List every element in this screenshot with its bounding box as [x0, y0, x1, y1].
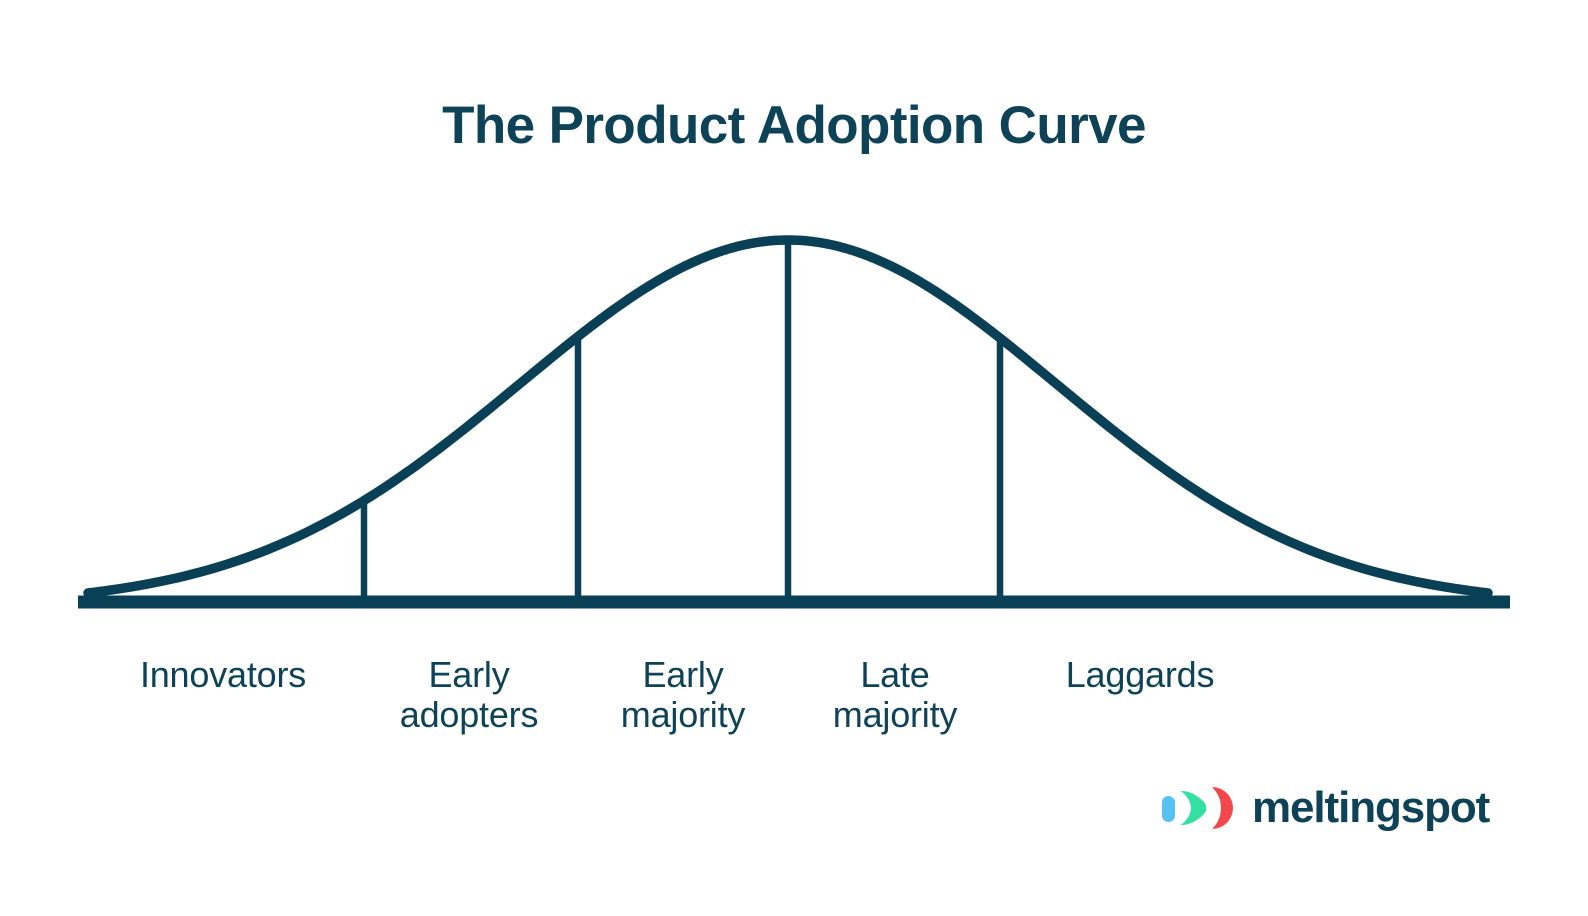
- bell-curve-path: [88, 240, 1488, 593]
- segment-label-line-1: Laggards: [990, 655, 1290, 695]
- brand-logo: meltingspot: [1160, 780, 1489, 836]
- segment-label-line-2: majority: [745, 695, 1045, 735]
- page-title: The Product Adoption Curve: [0, 96, 1588, 157]
- brand-wordmark: meltingspot: [1252, 786, 1489, 830]
- segment-label-laggards: Laggards: [990, 655, 1290, 695]
- meltingspot-mark-icon: [1160, 784, 1238, 832]
- adoption-curve-infographic: The Product Adoption Curve Innovators Ea…: [0, 0, 1588, 916]
